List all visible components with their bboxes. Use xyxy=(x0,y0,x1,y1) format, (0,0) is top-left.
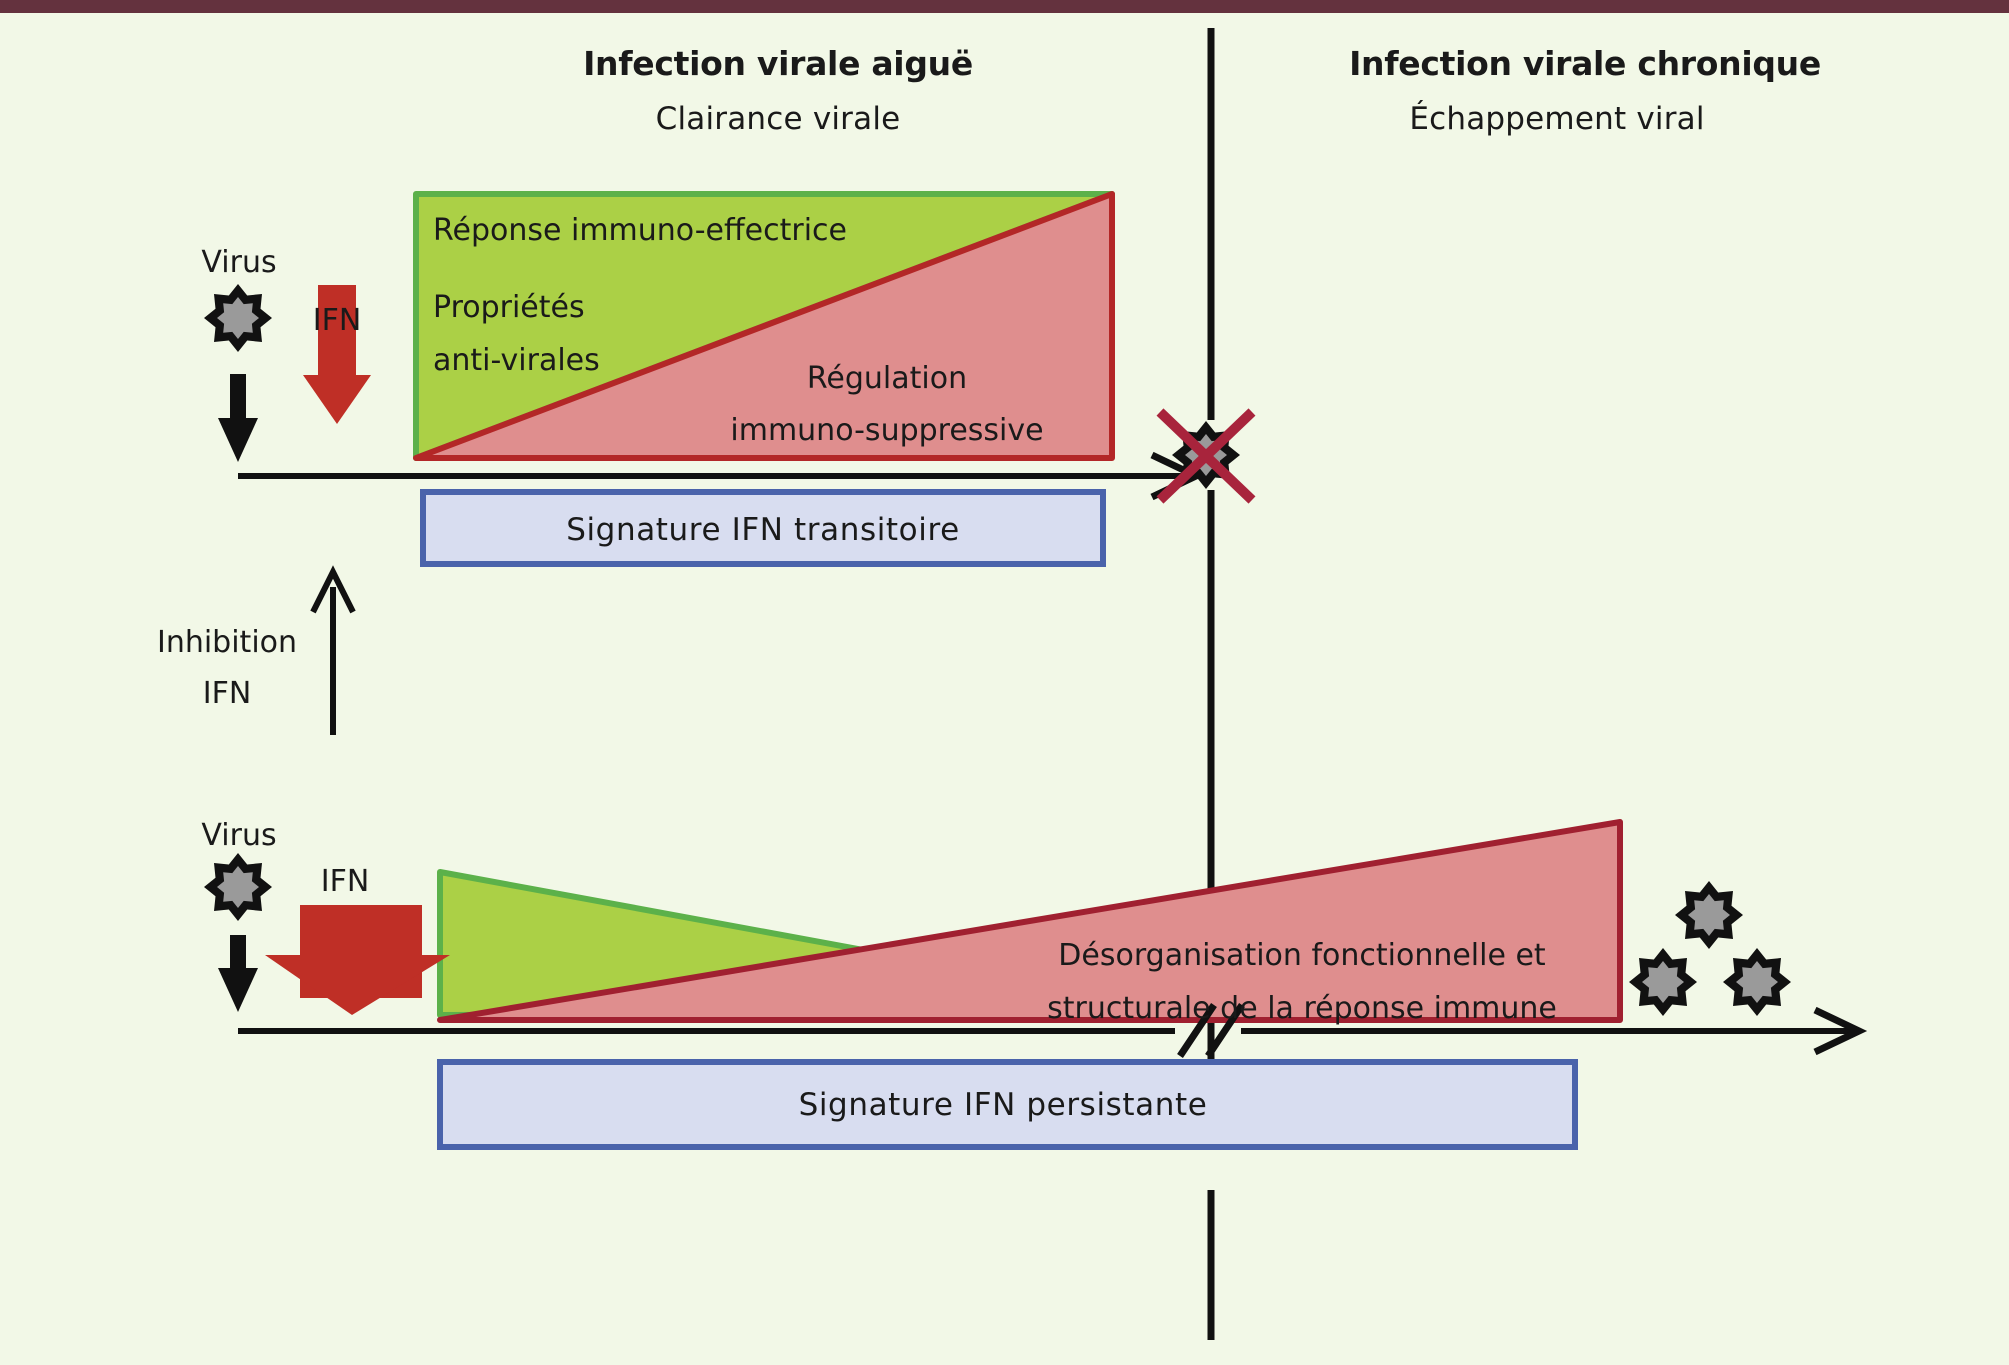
escaped-virus-icon-2 xyxy=(1629,948,1697,1016)
acute-panel-title: Infection virale aiguë xyxy=(583,44,973,83)
inhibition-label-2: IFN xyxy=(203,676,252,711)
escaped-virus-icon-1 xyxy=(1675,881,1743,949)
acute-panel-subtitle: Clairance virale xyxy=(656,101,901,137)
chronic-virus-label: Virus xyxy=(201,818,276,853)
acute-red-wedge-label-1: Régulation xyxy=(807,361,967,396)
acute-green-wedge-label-2: Propriétés xyxy=(433,290,585,325)
chronic-red-wedge-label-2: structurale de la réponse immune xyxy=(1047,991,1557,1026)
acute-virus-icon xyxy=(204,284,272,352)
chronic-ifn-label: IFN xyxy=(321,864,370,899)
chronic-signature-label: Signature IFN persistante xyxy=(799,1087,1208,1123)
chronic-virus-down-arrow-icon xyxy=(218,935,258,1012)
inhibition-up-arrow-icon xyxy=(313,572,353,735)
acute-green-wedge-label-3: anti-virales xyxy=(433,343,600,378)
inhibition-label-1: Inhibition xyxy=(157,625,297,660)
chronic-red-wedge-label-1: Désorganisation fonctionnelle et xyxy=(1058,938,1545,973)
escaped-virus-icon-3 xyxy=(1723,948,1791,1016)
chronic-panel-subtitle: Échappement viral xyxy=(1409,101,1704,137)
acute-signature-label: Signature IFN transitoire xyxy=(566,512,960,548)
acute-virus-down-arrow-icon xyxy=(218,374,258,462)
acute-green-wedge-label-1: Réponse immuno-effectrice xyxy=(433,213,847,248)
diagram-canvas xyxy=(0,0,2009,1365)
figure-root: Infection virale aiguë Clairance virale … xyxy=(0,0,2009,1365)
acute-ifn-label: IFN xyxy=(313,303,362,338)
acute-virus-label: Virus xyxy=(201,245,276,280)
acute-red-wedge-label-2: immuno-suppressive xyxy=(730,413,1043,448)
chronic-panel-title: Infection virale chronique xyxy=(1349,44,1821,83)
chronic-ifn-arrow-icon xyxy=(265,905,450,1015)
chronic-virus-icon xyxy=(204,853,272,921)
